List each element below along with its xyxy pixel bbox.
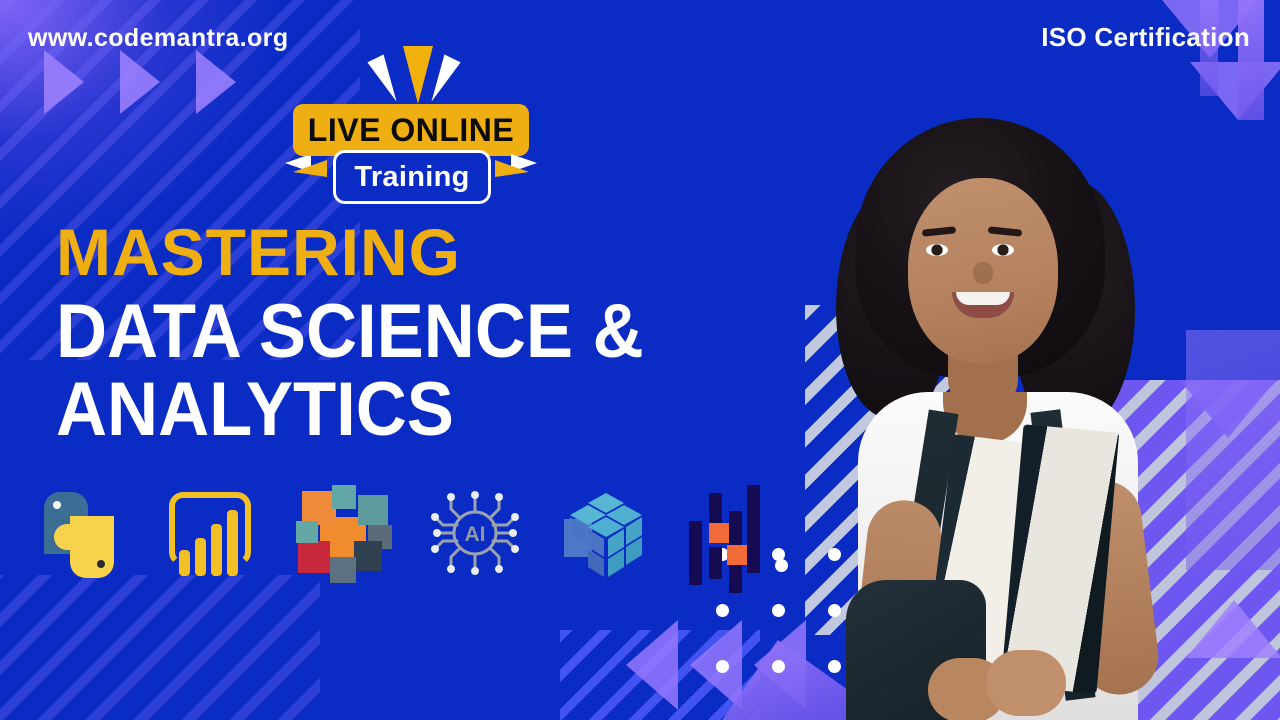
live-online-training-badge: LIVE ONLINE Training	[285, 48, 537, 213]
highlight-square-orange	[727, 545, 747, 565]
headline-main: DATA SCIENCE & ANALYTICS	[56, 293, 763, 448]
iso-certification-label: ISO Certification	[1041, 22, 1250, 53]
tableau-cross-teal	[358, 495, 388, 525]
machine-learning-bars-logo	[689, 485, 784, 585]
triangle-right-icon	[120, 50, 160, 114]
tableau-cross-teal	[296, 521, 318, 543]
headline-line-2: ANALYTICS	[56, 371, 763, 449]
badge-secondary: Training	[333, 150, 491, 204]
bar	[211, 524, 222, 576]
promo-banner: www.codemantra.org ISO Certification LIV…	[0, 0, 1280, 720]
bar	[179, 550, 190, 576]
bar	[747, 485, 760, 573]
highlight-square-orange	[709, 523, 729, 543]
ai-chip-logo: AI	[427, 485, 522, 585]
bar	[227, 510, 238, 576]
eye-right	[992, 244, 1014, 256]
triangle-right-icon	[44, 50, 84, 114]
bar	[195, 538, 206, 576]
tableau-cross-teal	[332, 485, 356, 509]
badge-primary: LIVE ONLINE	[293, 104, 529, 156]
numpy-cube	[570, 493, 642, 577]
tableau-logo	[296, 485, 391, 585]
dot	[772, 660, 785, 673]
nose	[973, 262, 993, 284]
headline-eyebrow: MASTERING	[56, 218, 816, 287]
badge-secondary-label: Training	[354, 161, 469, 194]
technology-logos: AI	[34, 480, 784, 590]
triangle-left-icon	[690, 620, 742, 710]
python-eye-bottom	[97, 560, 105, 568]
tableau-cross-orange	[302, 491, 336, 525]
badge-primary-label: LIVE ONLINE	[308, 112, 514, 149]
plane-wing-yellow	[293, 160, 327, 177]
ai-chip-text: AI	[465, 523, 486, 546]
purple-bar-shape	[1238, 0, 1264, 120]
student-photo	[800, 110, 1220, 720]
paper-plane-left-icon	[285, 152, 333, 186]
python-logo	[34, 485, 129, 585]
white-dot	[775, 559, 788, 572]
power-bi-bars	[179, 510, 238, 576]
triangle-left-icon	[626, 620, 678, 710]
plane-wing-yellow	[495, 160, 529, 177]
eye-left	[926, 244, 948, 256]
teeth	[956, 292, 1010, 305]
tableau-cross-red	[298, 541, 330, 573]
numpy-logo	[558, 485, 653, 585]
paper-plane-right-icon	[489, 152, 537, 186]
tableau-cross-slate	[354, 541, 382, 571]
python-eye-top	[53, 501, 61, 509]
triangle-left-icon	[754, 620, 806, 710]
dot	[772, 604, 785, 617]
starburst-rays-icon	[375, 48, 455, 104]
bottom-left-diagonal-stripes	[0, 575, 320, 720]
power-bi-logo	[165, 485, 260, 585]
dot	[716, 604, 729, 617]
bar	[689, 521, 702, 585]
dot	[716, 660, 729, 673]
headline-block: MASTERING DATA SCIENCE & ANALYTICS	[56, 218, 816, 448]
bar	[729, 565, 742, 593]
tableau-cross-gray	[330, 557, 356, 583]
bottom-right-stripes	[560, 630, 760, 720]
headline-line-1: DATA SCIENCE &	[56, 293, 763, 371]
bar	[709, 547, 722, 579]
hand-right	[986, 650, 1066, 716]
ray-left	[367, 54, 404, 105]
python-arm-bottom	[54, 524, 114, 550]
site-url[interactable]: www.codemantra.org	[28, 24, 288, 53]
triangle-right-icon	[196, 50, 236, 114]
